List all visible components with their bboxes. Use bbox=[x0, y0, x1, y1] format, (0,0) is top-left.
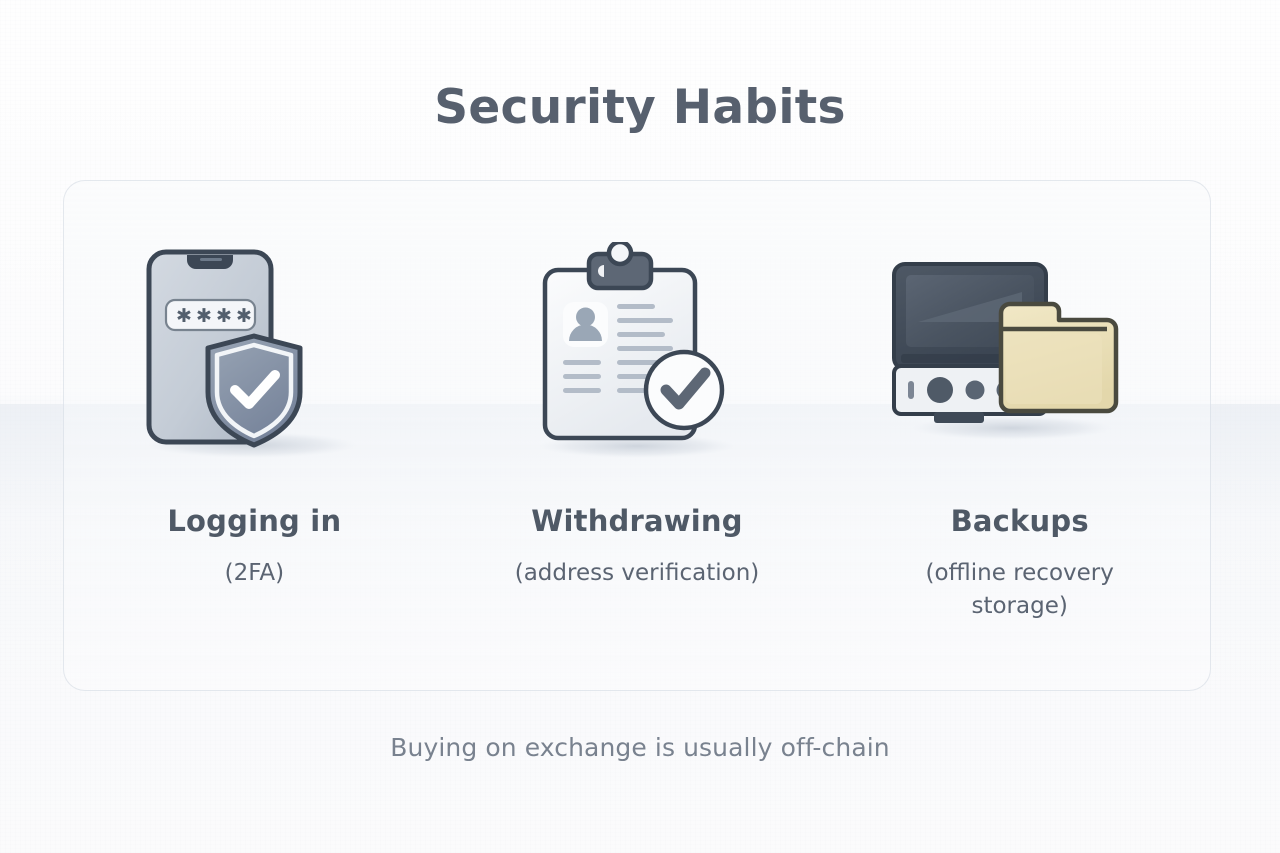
card-subtitle: (address verification) bbox=[492, 557, 782, 590]
svg-text:✱: ✱ bbox=[216, 305, 232, 327]
phone-shield-icon: ✱ ✱ ✱ ✱ bbox=[104, 242, 404, 472]
backup-storage-folder-icon bbox=[870, 242, 1170, 472]
phone-notch bbox=[187, 255, 233, 269]
card-logging-in[interactable]: ✱ ✱ ✱ ✱ Logging in (2FA) bbox=[63, 180, 446, 691]
card-caption: Logging in (2FA) bbox=[109, 472, 399, 590]
card-subtitle: (2FA) bbox=[109, 557, 399, 590]
card-subtitle: (offline recovery storage) bbox=[885, 557, 1155, 622]
check-circle-icon bbox=[646, 352, 722, 428]
svg-text:✱: ✱ bbox=[176, 305, 192, 327]
card-backups[interactable]: Backups (offline recovery storage) bbox=[828, 180, 1211, 691]
card-caption: Backups (offline recovery storage) bbox=[885, 472, 1155, 622]
card-caption: Withdrawing (address verification) bbox=[492, 472, 782, 590]
svg-text:✱: ✱ bbox=[236, 305, 252, 327]
password-field: ✱ ✱ ✱ ✱ bbox=[166, 300, 255, 330]
device-foot bbox=[934, 412, 984, 423]
card-title: Backups bbox=[885, 504, 1155, 538]
footer-note: Buying on exchange is usually off-chain bbox=[0, 733, 1280, 762]
clipboard-verified-icon bbox=[487, 242, 787, 472]
cards-row: ✱ ✱ ✱ ✱ Logging in (2FA) bbox=[63, 180, 1211, 691]
card-withdrawing[interactable]: Withdrawing (address verification) bbox=[446, 180, 829, 691]
card-title: Logging in bbox=[109, 504, 399, 538]
svg-text:✱: ✱ bbox=[196, 305, 212, 327]
phone-speaker bbox=[200, 258, 222, 261]
card-title: Withdrawing bbox=[492, 504, 782, 538]
device-slot bbox=[908, 381, 914, 399]
clipboard-clip bbox=[589, 242, 651, 288]
folder-icon bbox=[1001, 304, 1116, 411]
avatar bbox=[563, 302, 608, 347]
page-title: Security Habits bbox=[0, 80, 1280, 135]
text-lines-left bbox=[563, 360, 601, 393]
